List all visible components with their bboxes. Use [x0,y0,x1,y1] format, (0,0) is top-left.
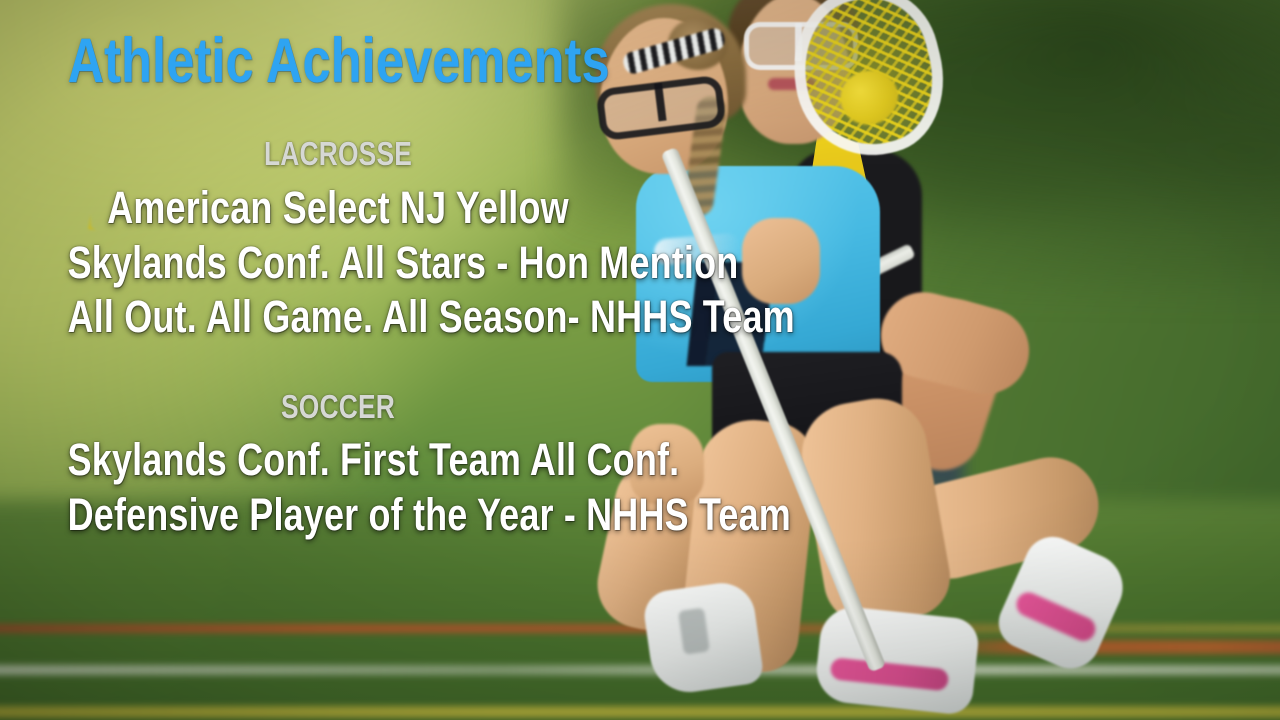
cleat-left [641,579,764,697]
stick-strings [88,110,224,246]
attacker-top-hand [742,218,820,304]
field-line-white [0,665,1280,675]
slide-canvas: Athletic Achievements LACROSSE American … [0,0,1280,720]
cleat-right [813,604,980,716]
background-photo [0,0,1280,720]
field-line-yellow [0,706,1280,718]
attacker-bottom-hand [630,424,704,504]
